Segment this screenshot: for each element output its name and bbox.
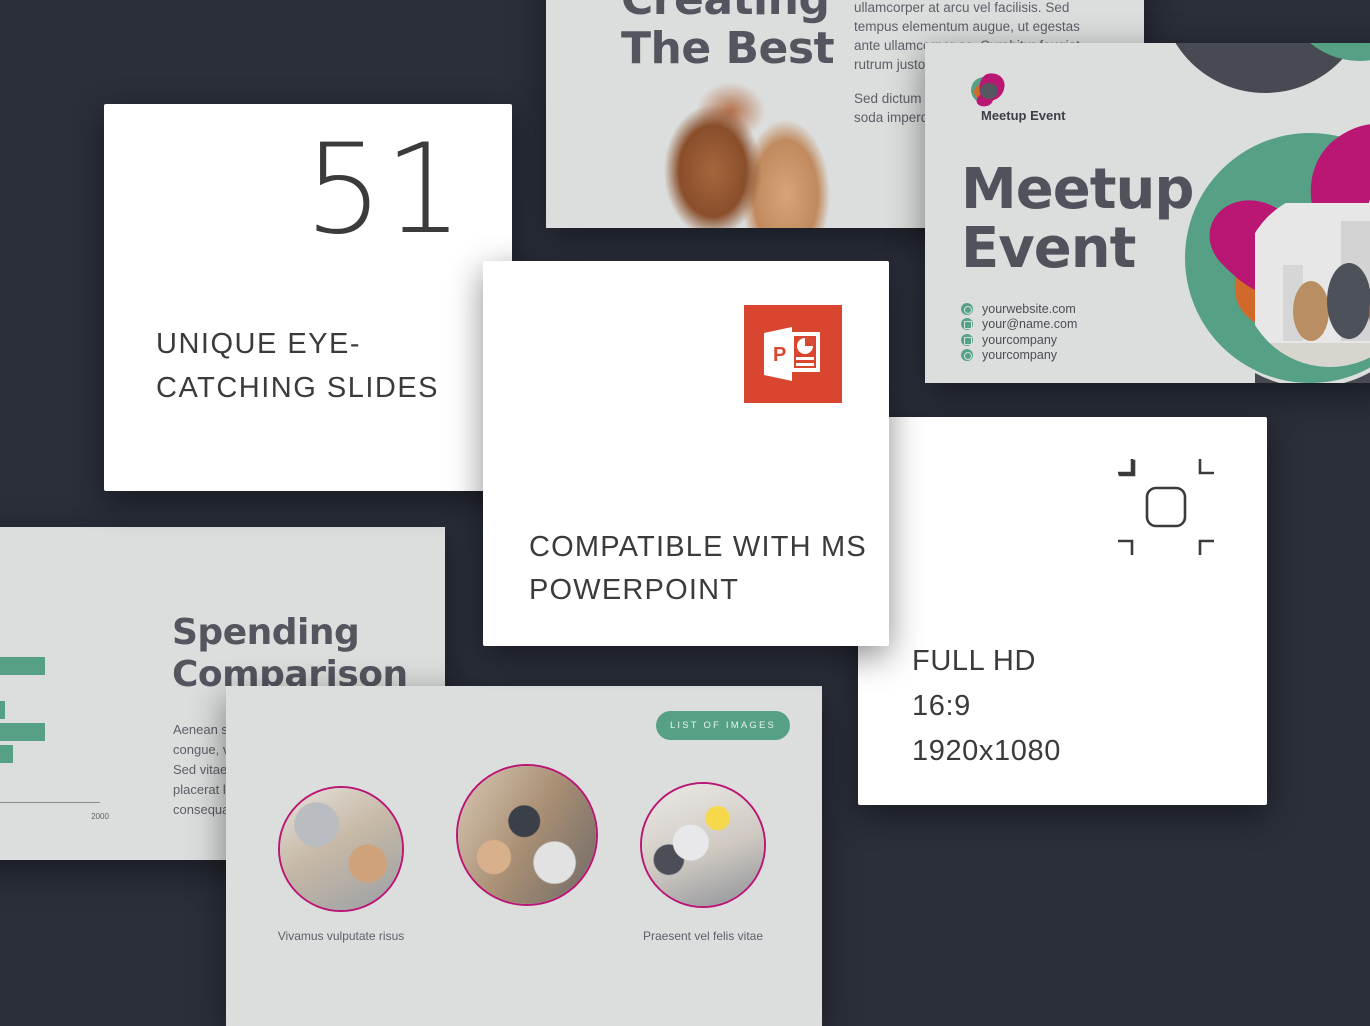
contact-instagram: yourcompany — [982, 348, 1057, 362]
meetup-title: Meetup Event — [961, 161, 1221, 279]
spending-title: Spending Comparison — [172, 612, 422, 696]
slide-collage: Creating The Best ullamcorper at arcu ve… — [0, 0, 1370, 913]
contact-row-instagram[interactable]: yourcompany — [961, 348, 1077, 364]
mail-icon — [961, 318, 973, 330]
image-caption-1: Vivamus vulputate risus — [256, 929, 426, 943]
contact-row-website[interactable]: yourwebsite.com — [961, 301, 1077, 317]
slide-full-hd[interactable]: FULL HD 16:9 1920x1080 — [858, 417, 1267, 805]
contact-row-facebook[interactable]: yourcompany — [961, 332, 1077, 348]
slide-meetup-event[interactable]: Meetup Event Meetup Event yourwebsite.co… — [925, 43, 1370, 383]
handshake-photo — [614, 78, 874, 228]
slide-compatible-powerpoint[interactable]: P COMPATIBLE WITH MS POWERPOINT — [483, 261, 889, 646]
powerpoint-icon: P — [744, 305, 842, 403]
fullhd-line-2: 16:9 — [912, 684, 1251, 729]
bar-3 — [0, 701, 5, 719]
image-thumb-1[interactable] — [278, 786, 404, 912]
contact-website: yourwebsite.com — [982, 302, 1076, 316]
link-icon — [961, 303, 973, 315]
image-caption-3: Praesent vel felis vitae — [618, 929, 788, 943]
thumb-photo-2 — [458, 766, 596, 904]
facebook-icon — [961, 334, 973, 346]
meetup-logo-label: Meetup Event — [981, 108, 1066, 123]
bar-1 — [0, 657, 45, 675]
contact-email: your@name.com — [982, 317, 1077, 331]
xtick-2000: 2000 — [91, 812, 109, 821]
fullhd-heading: FULL HD 16:9 1920x1080 — [912, 639, 1251, 774]
thumb-photo-3 — [642, 784, 764, 906]
contact-row-email[interactable]: your@name.com — [961, 317, 1077, 333]
slide-count-number: 51 — [304, 118, 464, 262]
fullhd-line-3: 1920x1080 — [912, 729, 1251, 774]
crop-frame-icon — [1116, 457, 1216, 557]
thumb-photo-1 — [280, 788, 402, 910]
spending-bar-chart: 800 800 1000 1500 2000 — [0, 635, 110, 825]
image-thumb-2[interactable] — [456, 764, 598, 906]
contact-facebook: yourcompany — [982, 333, 1057, 347]
powerpoint-letter: P — [773, 344, 786, 366]
slide-list-of-images[interactable]: LIST OF IMAGES Vivamus vulputate risus P… — [226, 686, 822, 1026]
image-thumb-3[interactable] — [640, 782, 766, 908]
slide-unique-eye-catching[interactable]: 51 UNIQUE EYE-CATCHING SLIDES — [104, 104, 512, 491]
unique-heading: UNIQUE EYE-CATCHING SLIDES — [156, 322, 488, 410]
powerpoint-glyph: P — [764, 327, 822, 381]
fullhd-line-1: FULL HD — [912, 639, 1251, 684]
powerpoint-heading: COMPATIBLE WITH MS POWERPOINT — [529, 526, 871, 612]
instagram-icon — [961, 349, 973, 361]
meetup-logo: Meetup Event — [961, 70, 1083, 128]
bar-5 — [0, 745, 13, 763]
bar-4 — [0, 723, 45, 741]
chart-x-axis — [0, 802, 100, 803]
meetup-logo-icon — [967, 70, 1013, 110]
list-of-images-button[interactable]: LIST OF IMAGES — [656, 711, 790, 740]
meetup-contacts: yourwebsite.com your@name.com yourcompan… — [961, 301, 1077, 363]
